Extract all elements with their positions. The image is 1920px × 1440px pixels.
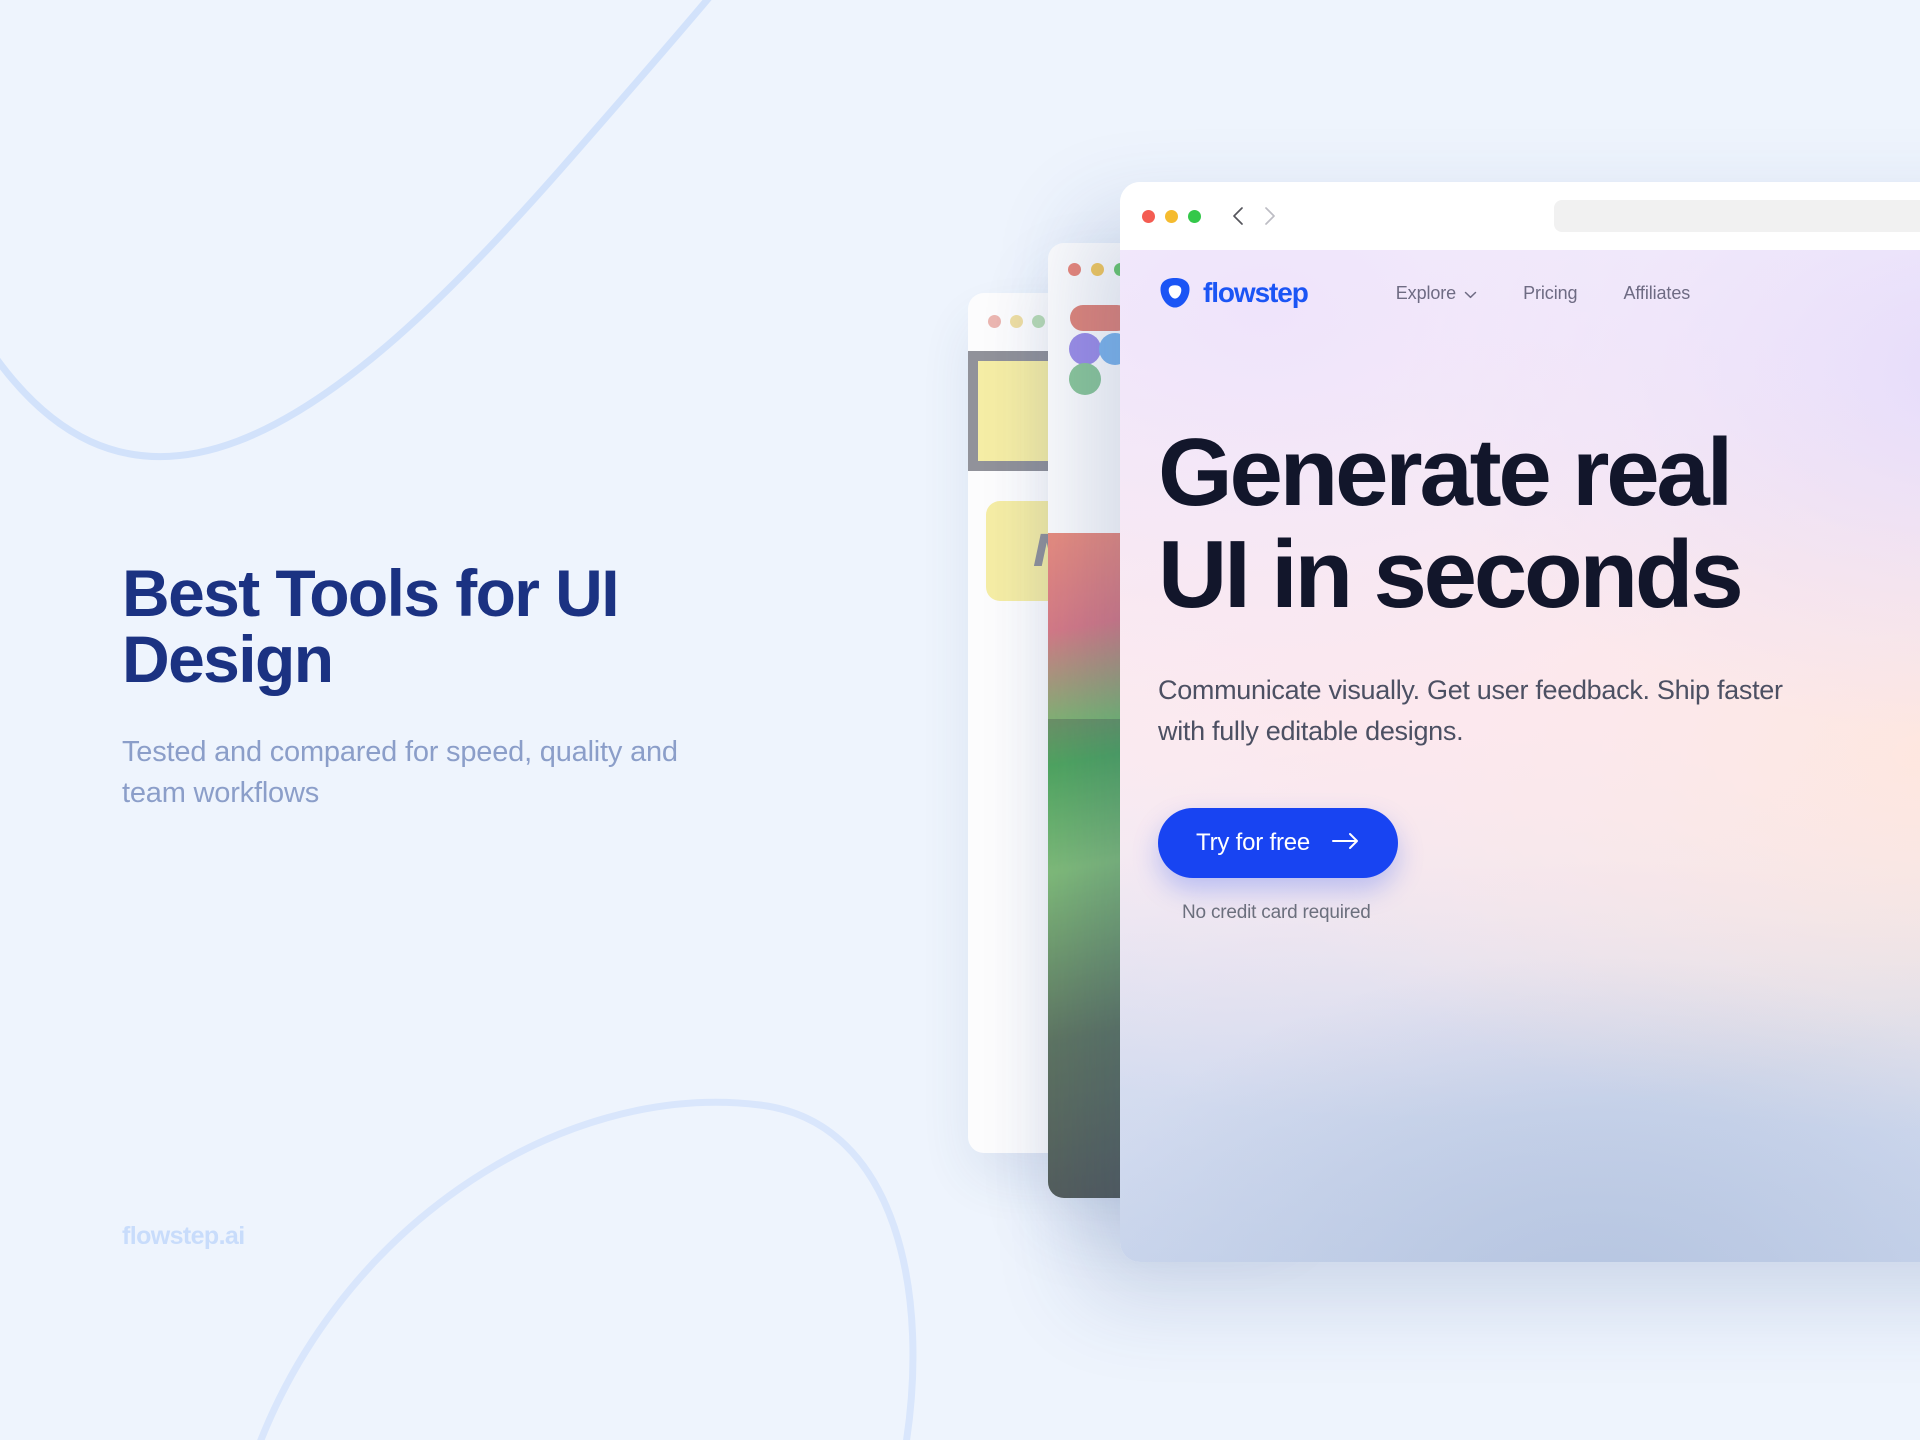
traffic-light-red-icon xyxy=(1068,263,1081,276)
nav-item-explore[interactable]: Explore xyxy=(1396,283,1477,304)
poster-canvas: Best Tools for UI Design Tested and comp… xyxy=(0,0,1920,1440)
chevron-left-icon[interactable] xyxy=(1231,206,1245,226)
hero-section: Generate real UI in seconds Communicate … xyxy=(1120,336,1920,924)
hero-heading: Generate real UI in seconds xyxy=(1158,422,1920,626)
website-viewport: flowstep Explore Pricing Affiliates Gene… xyxy=(1120,250,1920,1262)
site-navigation: flowstep Explore Pricing Affiliates xyxy=(1120,250,1920,336)
nav-item-explore-label: Explore xyxy=(1396,283,1456,304)
traffic-light-red-icon xyxy=(988,315,1001,328)
brandmark-logotype: flowstep.ai xyxy=(122,1222,245,1251)
window-controls-mid xyxy=(1068,263,1127,276)
try-for-free-button[interactable]: Try for free xyxy=(1158,808,1398,878)
curve-top-left xyxy=(0,0,800,457)
hero-subheading: Communicate visually. Get user feedback.… xyxy=(1158,670,1920,753)
traffic-light-green-icon xyxy=(1032,315,1045,328)
traffic-light-yellow-icon xyxy=(1091,263,1104,276)
cta-note: No credit card required xyxy=(1182,902,1920,924)
maximize-window-icon[interactable] xyxy=(1188,210,1201,223)
chevron-down-icon xyxy=(1464,283,1477,304)
browser-chrome-bar: flowstep.ai xyxy=(1120,182,1920,250)
browser-window: flowstep.ai flowstep Explore xyxy=(1120,182,1920,1262)
site-brand-name: flowstep xyxy=(1203,277,1308,309)
arrow-right-icon xyxy=(1332,829,1360,857)
hero-copy-block: Best Tools for UI Design Tested and comp… xyxy=(122,560,842,814)
window-controls xyxy=(1142,210,1201,223)
traffic-light-yellow-icon xyxy=(1010,315,1023,328)
minimize-window-icon[interactable] xyxy=(1165,210,1178,223)
try-for-free-label: Try for free xyxy=(1196,829,1310,857)
chevron-right-icon[interactable] xyxy=(1263,206,1277,226)
browser-navigation-buttons xyxy=(1231,206,1277,226)
close-window-icon[interactable] xyxy=(1142,210,1155,223)
nav-item-pricing[interactable]: Pricing xyxy=(1523,283,1577,304)
curve-bottom-left xyxy=(250,1102,913,1440)
page-subtitle: Tested and compared for speed, quality a… xyxy=(122,732,812,814)
nav-item-pricing-label: Pricing xyxy=(1523,283,1577,304)
page-title: Best Tools for UI Design xyxy=(122,560,842,692)
nav-item-affiliates-label: Affiliates xyxy=(1623,283,1690,304)
address-bar[interactable]: flowstep.ai xyxy=(1554,200,1920,232)
nav-item-affiliates[interactable]: Affiliates xyxy=(1623,283,1690,304)
flowstep-shield-icon xyxy=(1158,276,1192,310)
site-logo[interactable]: flowstep xyxy=(1158,276,1308,310)
window-controls-far xyxy=(988,315,1045,328)
